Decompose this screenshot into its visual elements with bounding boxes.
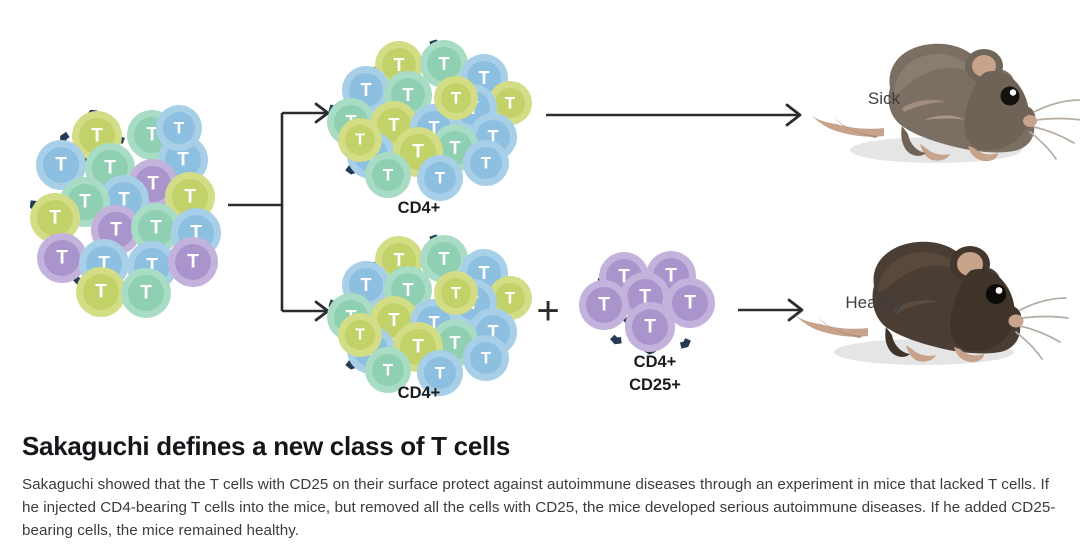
t-cell: T	[168, 237, 218, 287]
svg-text:T: T	[481, 349, 492, 368]
mixed-t-cell-cluster: T T T T T T	[28, 105, 221, 318]
svg-text:T: T	[110, 220, 122, 241]
svg-text:T: T	[79, 192, 91, 213]
svg-text:T: T	[479, 263, 490, 283]
svg-text:T: T	[150, 218, 162, 239]
svg-text:T: T	[389, 115, 400, 135]
sick-mouse: Sick	[810, 44, 1080, 163]
arrow-to-healthy-mouse	[738, 300, 802, 320]
t-cell: T	[156, 105, 202, 151]
svg-text:T: T	[355, 132, 365, 149]
svg-text:T: T	[104, 158, 116, 179]
t-cell: T	[625, 302, 675, 352]
t-cell: T	[434, 76, 478, 120]
svg-text:T: T	[439, 54, 450, 74]
svg-text:T: T	[389, 310, 400, 330]
plus-symbol: +	[536, 289, 559, 333]
branch-arrowheads	[316, 104, 328, 320]
sick-mouse-label: Sick	[868, 89, 901, 108]
healthy-mouse: Healthy	[794, 242, 1068, 365]
healthy-mouse-label: Healthy	[845, 293, 903, 312]
arrow-to-sick-mouse	[546, 105, 800, 125]
svg-text:T: T	[412, 142, 424, 163]
svg-text:T: T	[174, 119, 185, 138]
svg-text:T: T	[56, 248, 68, 269]
svg-text:T: T	[355, 327, 365, 344]
svg-text:T: T	[91, 126, 103, 147]
cd25-label-line1: CD4+	[634, 353, 677, 371]
t-cell: T	[579, 280, 629, 330]
svg-text:T: T	[361, 275, 372, 295]
svg-text:T: T	[140, 283, 152, 304]
caption-body: Sakaguchi showed that the T cells with C…	[22, 473, 1062, 542]
svg-text:T: T	[147, 174, 159, 195]
cd25-cluster: T T T T T T CD4+ CD25+	[579, 250, 715, 394]
t-cell: T	[463, 335, 509, 381]
experiment-diagram: T T T T T T	[0, 0, 1080, 430]
cd4-top-label: CD4+	[398, 199, 441, 217]
svg-text:T: T	[383, 166, 394, 185]
t-cell: T	[417, 155, 463, 201]
svg-text:T: T	[450, 138, 461, 158]
svg-text:T: T	[505, 289, 516, 308]
svg-text:T: T	[598, 295, 610, 316]
t-cell: T	[365, 152, 411, 198]
t-cell: T	[338, 313, 382, 357]
caption-block: Sakaguchi defines a new class of T cells…	[22, 432, 1062, 542]
svg-text:T: T	[95, 282, 107, 303]
t-cell: T	[463, 140, 509, 186]
svg-text:T: T	[187, 252, 199, 273]
svg-text:T: T	[481, 154, 492, 173]
svg-text:T: T	[403, 85, 414, 105]
svg-text:T: T	[383, 361, 394, 380]
cd25-label-line2: CD25+	[629, 376, 681, 394]
page-title: Sakaguchi defines a new class of T cells	[22, 432, 1062, 461]
svg-text:T: T	[451, 89, 462, 108]
svg-text:T: T	[403, 280, 414, 300]
svg-text:T: T	[435, 169, 446, 188]
cd4-bottom-cluster: T T T T T T T	[327, 234, 532, 402]
svg-text:T: T	[361, 80, 372, 100]
svg-text:T: T	[684, 293, 696, 314]
t-cell: T	[76, 267, 126, 317]
svg-text:T: T	[451, 284, 462, 303]
svg-text:T: T	[55, 155, 67, 176]
svg-text:T: T	[479, 68, 490, 88]
svg-text:T: T	[439, 249, 450, 269]
svg-text:T: T	[177, 150, 189, 171]
t-cell: T	[121, 268, 171, 318]
cd4-bottom-label: CD4+	[398, 384, 441, 402]
svg-text:T: T	[435, 364, 446, 383]
branch-connector	[228, 113, 326, 311]
svg-text:T: T	[184, 187, 196, 208]
svg-text:T: T	[505, 94, 516, 113]
t-cell: T	[338, 118, 382, 162]
svg-text:T: T	[49, 208, 61, 229]
cd4-top-cluster: T T T T T T T	[327, 39, 532, 217]
t-cell: T	[37, 233, 87, 283]
svg-text:T: T	[412, 337, 424, 358]
svg-text:T: T	[644, 317, 656, 338]
svg-text:T: T	[450, 333, 461, 353]
t-cell: T	[434, 271, 478, 315]
